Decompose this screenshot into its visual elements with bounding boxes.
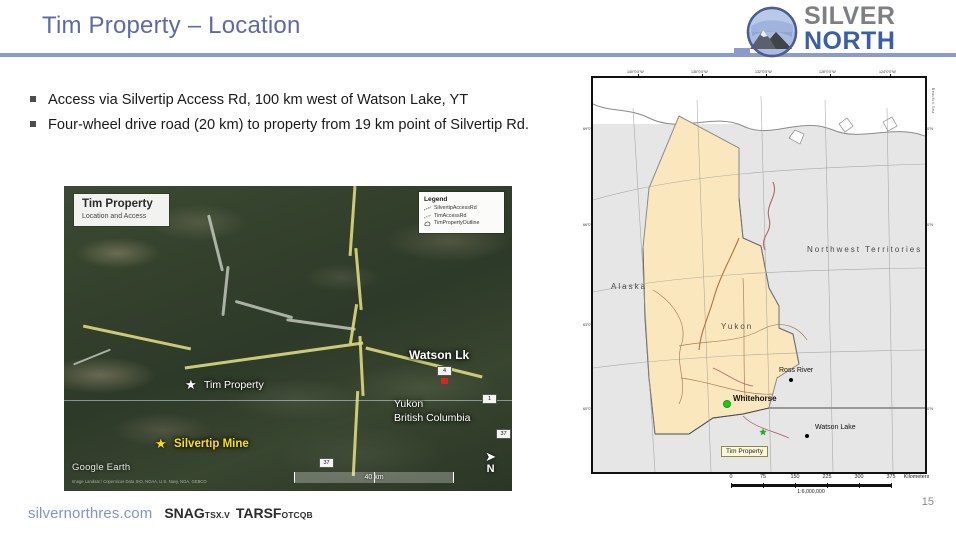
legend-item: SilvertipAccessRd — [424, 205, 498, 213]
silvertip-mine-star-icon: ★ — [155, 437, 167, 450]
highway-line — [83, 325, 191, 351]
scale-value: 375 — [887, 474, 896, 480]
dashed-line-icon — [424, 206, 431, 212]
bullet-text: Access via Silvertip Access Rd, 100 km w… — [48, 92, 468, 108]
ticker-exchange: OTCQB — [281, 510, 312, 520]
legend-item-label: TimPropertyOutline — [434, 220, 479, 228]
satellite-map-image: Tim Property Location and Access Legend … — [64, 186, 512, 491]
map-label-tim-property: Tim Property — [204, 379, 264, 391]
highway-shield-4: 4 — [437, 366, 452, 376]
tim-property-star-icon: ★ — [759, 428, 767, 437]
map-label-yukon: Yukon — [394, 398, 423, 410]
satellite-map-title: Tim Property — [82, 198, 153, 211]
ross-river-dot-icon — [789, 378, 793, 382]
highway-line — [185, 341, 364, 369]
list-item: Access via Silvertip Access Rd, 100 km w… — [26, 90, 586, 111]
lon-tick-label: 128°0'0"W — [819, 70, 836, 74]
legend-item-label: TimAccessRd — [434, 213, 466, 221]
region-label-nwt: Northwest Territories — [807, 244, 891, 256]
scale-value: 75 — [760, 474, 766, 480]
page-title: Tim Property – Location — [42, 12, 301, 40]
ticker-symbol: TARSF — [236, 505, 282, 521]
highway-line — [354, 248, 362, 310]
map-label-watson-lk: Watson Lk — [409, 348, 469, 362]
scale-value: 225 — [823, 474, 832, 480]
legend-item-label: SilvertipAccessRd — [434, 205, 477, 213]
scale-ratio: 1:6,000,000 — [731, 489, 891, 495]
lon-tick-label: 140°0'0"W — [627, 70, 644, 74]
ticker-exchange: TSX.V — [205, 510, 230, 520]
list-item: Four-wheel drive road (20 km) to propert… — [26, 115, 586, 136]
bullet-list: Access via Silvertip Access Rd, 100 km w… — [26, 90, 586, 139]
slide: Tim Property – Location SILVER NORTH Acc… — [0, 0, 956, 534]
polygon-outline-icon — [424, 221, 431, 227]
province-border-line — [64, 400, 512, 401]
river-segment — [235, 300, 294, 319]
logo-text-silver: SILVER — [804, 4, 895, 29]
square-bullet-icon — [30, 96, 36, 102]
tim-property-callout: Tim Property — [721, 446, 768, 457]
map-geometry — [593, 78, 925, 472]
highway-line — [358, 336, 364, 396]
legend-item: TimAccessRd — [424, 213, 498, 221]
ticker-symbol: SNAG — [164, 505, 204, 521]
river-segment — [73, 349, 111, 366]
legend-item: TimPropertyOutline — [424, 220, 498, 228]
legend-heading: Legend — [424, 196, 498, 203]
google-earth-watermark: Google Earth — [72, 462, 130, 473]
north-arrow-icon: ➤ N — [485, 450, 496, 475]
scale-value: 150 — [791, 474, 800, 480]
highway-line — [349, 304, 358, 344]
map-label-silvertip-mine: Silvertip Mine — [174, 438, 249, 450]
imagery-attribution: Image Landsat / Copernicus Data SIO, NOA… — [72, 479, 207, 485]
ticker-tarsf: TARSFOTCQB — [236, 505, 313, 521]
scale-bar-label: 40 km — [364, 472, 383, 483]
scale-units: Kilometers — [904, 474, 929, 480]
beaufort-sea-label: Beaufort Sea — [931, 88, 935, 114]
city-label-whitehorse: Whitehorse — [733, 394, 777, 403]
lon-tick-label: 132°0'0"W — [755, 70, 772, 74]
map-legend: Legend SilvertipAccessRd TimAccessRd Tim… — [419, 192, 504, 233]
dashed-line-icon — [424, 214, 431, 220]
scale-value: 0 — [730, 474, 733, 480]
region-label-yukon: Yukon — [721, 322, 753, 331]
yukon-scale-bar: 0 75 150 225 300 375 Kilometers 1:6,000,… — [731, 474, 891, 495]
logo-text-north: NORTH — [804, 29, 895, 54]
region-label-alaska: Alaska — [611, 282, 647, 291]
highway-line — [349, 186, 357, 256]
river-segment — [286, 318, 356, 331]
square-bullet-icon — [30, 121, 36, 127]
map-label-british-columbia: British Columbia — [394, 412, 470, 424]
mountain-circle-icon — [746, 6, 798, 58]
silver-north-logo: SILVER NORTH — [746, 4, 946, 62]
north-arrow-label: N — [485, 464, 496, 475]
satellite-scale-bar: 40 km — [294, 472, 454, 483]
footer-website[interactable]: silvernorthres.com — [28, 505, 152, 522]
bullet-text: Four-wheel drive road (20 km) to propert… — [48, 117, 529, 133]
yukon-location-map: 140°0'0"W 136°0'0"W 132°0'0"W 128°0'0"W … — [583, 70, 933, 480]
highway-shield-37b: 37 — [319, 458, 334, 468]
scale-value: 300 — [855, 474, 864, 480]
whitehorse-dot-icon — [723, 400, 731, 408]
river-segment — [221, 266, 229, 316]
ticker-snag: SNAGTSX.V — [164, 505, 230, 521]
highway-line — [352, 391, 359, 476]
satellite-map-subtitle: Location and Access — [82, 212, 153, 221]
highway-shield-37a: 37 — [496, 429, 511, 439]
city-label-ross-river: Ross River — [779, 367, 813, 374]
city-label-watson-lake: Watson Lake — [815, 424, 856, 431]
lon-tick-label: 124°0'0"W — [879, 70, 896, 74]
lon-tick-label: 136°0'0"W — [691, 70, 708, 74]
highway-shield-1: 1 — [482, 394, 497, 404]
footer: silvernorthres.com SNAGTSX.V TARSFOTCQB — [28, 505, 313, 522]
tim-property-star-icon: ★ — [185, 378, 197, 391]
watson-lake-dot-icon — [805, 434, 809, 438]
page-number: 15 — [922, 496, 934, 508]
map-frame: Alaska Yukon Northwest Territories Ross … — [591, 76, 927, 474]
river-segment — [207, 214, 224, 271]
satellite-map-title-box: Tim Property Location and Access — [74, 194, 169, 226]
city-marker — [441, 378, 448, 384]
